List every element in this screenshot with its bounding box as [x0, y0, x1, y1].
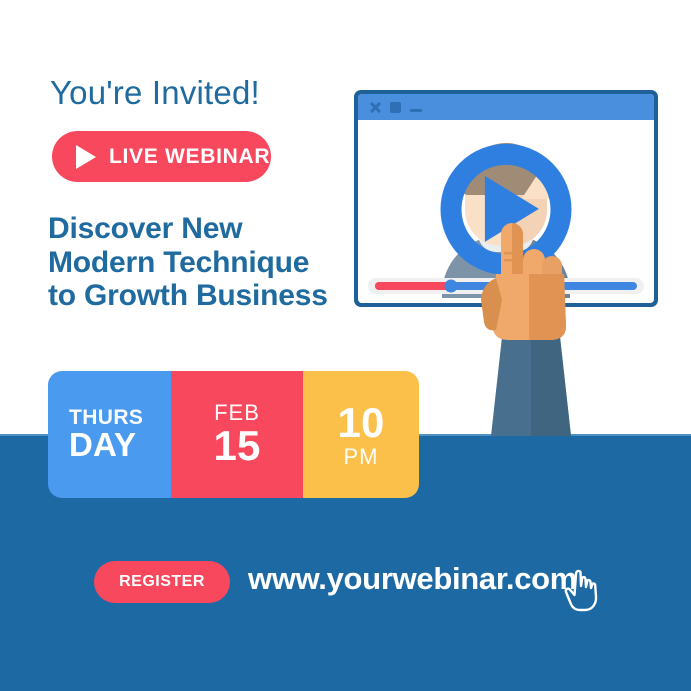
play-triangle-icon: [76, 145, 96, 169]
headline-line-2: Modern Technique: [48, 246, 358, 280]
date-card-day-panel: THURS DAY: [48, 371, 171, 498]
headline-line-1: Discover New: [48, 212, 358, 246]
invited-heading: You're Invited!: [50, 74, 260, 112]
progress-handle[interactable]: [444, 280, 457, 293]
date-card-date-panel: FEB 15: [171, 371, 303, 498]
register-button[interactable]: REGISTER: [94, 561, 230, 603]
meridiem-label: PM: [344, 446, 379, 468]
headline-line-3: to Growth Business: [48, 279, 358, 313]
register-button-label: REGISTER: [119, 573, 205, 591]
date-card-time-panel: 10 PM: [303, 371, 419, 498]
window-titlebar: [358, 94, 654, 120]
day-bottom-label: DAY: [69, 428, 171, 462]
webinar-url[interactable]: www.yourwebinar.com: [248, 561, 577, 597]
minimize-icon[interactable]: [410, 109, 422, 112]
day-top-label: THURS: [69, 407, 171, 428]
page-title: Discover New Modern Technique to Growth …: [48, 212, 358, 313]
month-label: FEB: [214, 402, 260, 424]
close-icon[interactable]: [369, 101, 381, 113]
progress-fill: [375, 282, 451, 290]
event-date-card: THURS DAY FEB 15 10 PM: [48, 371, 419, 498]
pointing-hand-icon: [472, 222, 582, 342]
day-number-label: 15: [213, 424, 260, 468]
live-webinar-label: LIVE WEBINAR: [109, 145, 270, 169]
webinar-poster: You're Invited! LIVE WEBINAR Discover Ne…: [0, 0, 691, 691]
pointing-hand-cursor-icon: [563, 566, 605, 614]
live-webinar-badge[interactable]: LIVE WEBINAR: [52, 131, 271, 182]
hour-label: 10: [337, 401, 384, 445]
maximize-icon[interactable]: [390, 102, 401, 113]
